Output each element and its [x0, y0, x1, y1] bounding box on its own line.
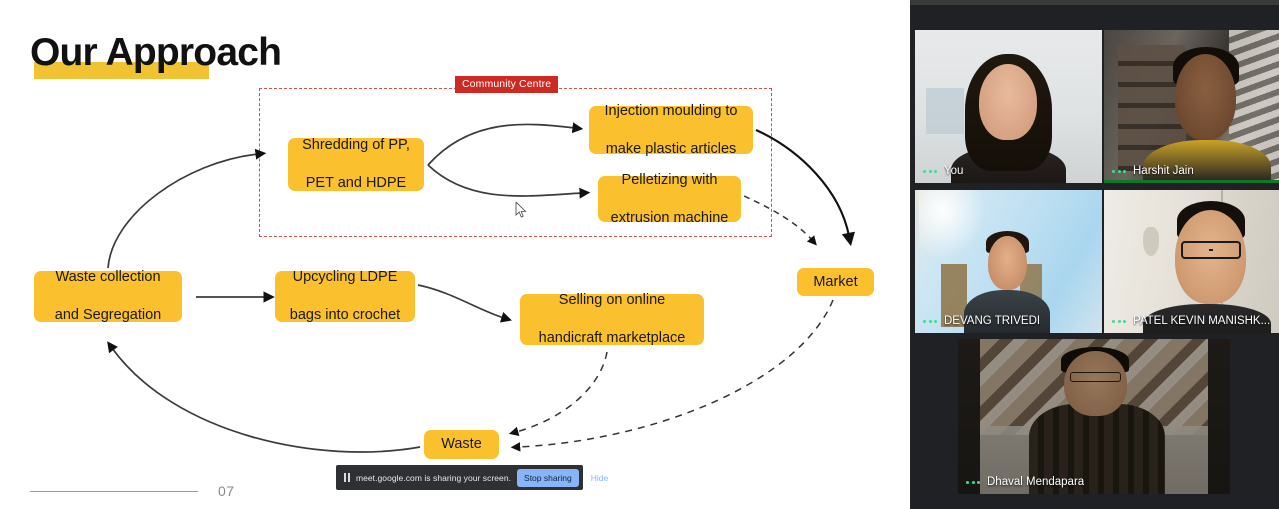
- video-tile-harshit-jain[interactable]: Harshit Jain: [1104, 30, 1279, 183]
- participant-name-block: You: [923, 165, 963, 177]
- more-options-icon[interactable]: [1112, 170, 1126, 173]
- video-feed: [958, 339, 1230, 494]
- participant-name-block: Harshit Jain: [1112, 165, 1194, 177]
- hide-button[interactable]: Hide: [585, 469, 614, 487]
- video-participants-panel: You Harshit Jain: [910, 0, 1279, 509]
- node-waste-collection-line2: and Segregation: [55, 306, 161, 325]
- footer-divider: [30, 491, 198, 492]
- participant-name-block: DEVANG TRIVEDI: [923, 315, 1040, 327]
- mouse-cursor-icon: [515, 202, 527, 218]
- page-title: Our Approach: [30, 28, 281, 78]
- slide-title-block: Our Approach: [30, 28, 281, 78]
- node-upcycling-line2: bags into crochet: [290, 306, 400, 325]
- node-waste-collection: Waste collection and Segregation: [34, 271, 182, 322]
- page-number: 07: [218, 483, 235, 499]
- participant-name: You: [944, 165, 963, 177]
- participant-name: PATEL KEVIN MANISHK...: [1133, 315, 1270, 327]
- screen: Our Approach Community Centre: [0, 0, 1279, 509]
- node-selling-line1: Selling on online: [539, 291, 686, 310]
- node-selling-line2: handicraft marketplace: [539, 329, 686, 348]
- speaking-indicator: [1104, 180, 1279, 183]
- node-waste-collection-line1: Waste collection: [55, 268, 161, 287]
- node-waste-label: Waste: [441, 435, 482, 454]
- node-selling: Selling on online handicraft marketplace: [520, 294, 704, 345]
- node-injection-moulding: Injection moulding to make plastic artic…: [589, 106, 753, 154]
- presentation-slide: Our Approach Community Centre: [0, 0, 910, 509]
- node-shredding-line1: Shredding of PP,: [302, 136, 410, 155]
- video-feed: [915, 30, 1102, 183]
- video-feed: [915, 190, 1102, 333]
- share-message: meet.google.com is sharing your screen.: [356, 473, 511, 483]
- node-injection-line1: Injection moulding to: [605, 102, 738, 121]
- participant-name-block: Dhaval Mendapara: [966, 476, 1084, 488]
- node-upcycling-line1: Upcycling LDPE: [290, 268, 400, 287]
- video-tile-devang-trivedi[interactable]: DEVANG TRIVEDI: [915, 190, 1102, 333]
- pause-icon: [344, 473, 350, 482]
- video-feed: [1104, 190, 1279, 333]
- video-tile-patel-kevin[interactable]: PATEL KEVIN MANISHK...: [1104, 190, 1279, 333]
- node-shredding-line2: PET and HDPE: [302, 174, 410, 193]
- more-options-icon[interactable]: [966, 481, 980, 484]
- participant-name: Harshit Jain: [1133, 165, 1194, 177]
- node-shredding: Shredding of PP, PET and HDPE: [288, 138, 424, 191]
- screen-share-bar[interactable]: meet.google.com is sharing your screen. …: [336, 465, 583, 490]
- participant-name-block: PATEL KEVIN MANISHK...: [1112, 315, 1270, 327]
- more-options-icon[interactable]: [923, 320, 937, 323]
- community-centre-label: Community Centre: [455, 76, 558, 93]
- node-upcycling: Upcycling LDPE bags into crochet: [275, 271, 415, 322]
- node-pelletizing: Pelletizing with extrusion machine: [598, 176, 741, 222]
- participant-name: Dhaval Mendapara: [987, 476, 1084, 488]
- node-pelletizing-line2: extrusion machine: [611, 209, 729, 228]
- stop-sharing-button[interactable]: Stop sharing: [517, 469, 579, 487]
- node-market-label: Market: [813, 273, 857, 292]
- panel-top-strip: [910, 0, 1279, 5]
- more-options-icon[interactable]: [923, 170, 937, 173]
- node-waste: Waste: [424, 430, 499, 459]
- video-feed: [1104, 30, 1279, 183]
- video-tile-dhaval-mendapara[interactable]: Dhaval Mendapara: [958, 339, 1230, 494]
- participant-name: DEVANG TRIVEDI: [944, 315, 1040, 327]
- video-tile-you[interactable]: You: [915, 30, 1102, 183]
- node-market: Market: [797, 268, 874, 296]
- node-pelletizing-line1: Pelletizing with: [611, 171, 729, 190]
- more-options-icon[interactable]: [1112, 320, 1126, 323]
- node-injection-line2: make plastic articles: [605, 140, 738, 159]
